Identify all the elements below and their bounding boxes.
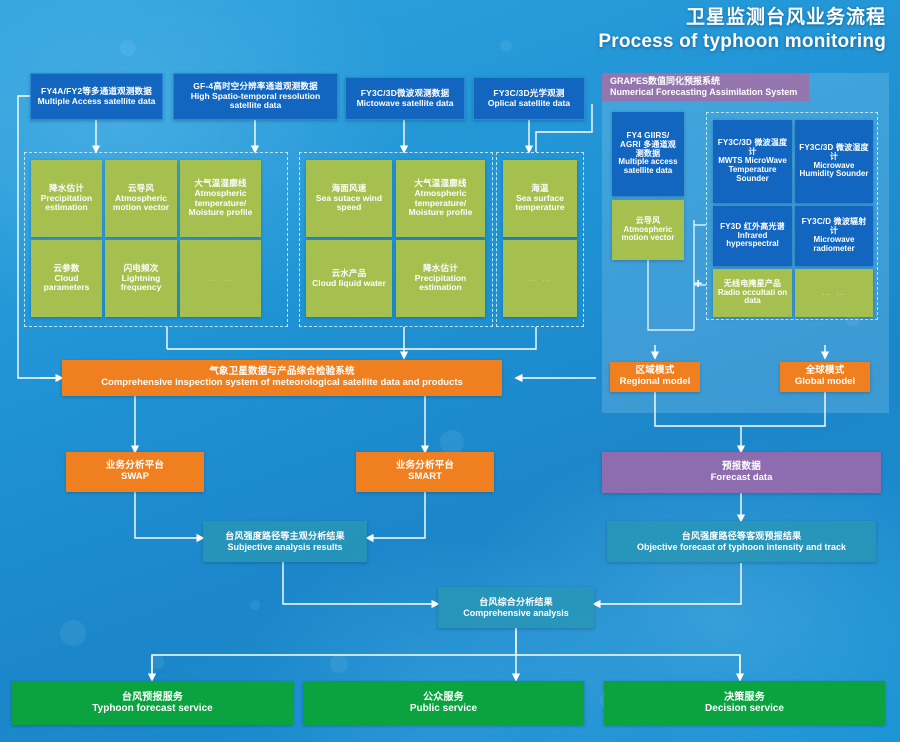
source-en: High Spatio-temporal resolution satellit…	[178, 92, 333, 111]
grapes-en: … …	[822, 289, 846, 298]
platform-en: SWAP	[121, 472, 149, 483]
subjective-analysis-box[interactable]: 台风强度路径等主观分析结果 Subjective analysis result…	[203, 521, 367, 562]
product-box-sea-surface-temperature[interactable]: 海温 Sea surface temperature	[503, 160, 577, 237]
objective-forecast-box[interactable]: 台风强度路径等客观预报结果 Objective forecast of typh…	[607, 521, 876, 562]
source-en: Oplical satellite data	[488, 99, 570, 109]
product-en: Precipitation estimation	[35, 194, 98, 213]
source-en: Multiple Access satellite data	[38, 97, 156, 107]
bokeh-dot	[120, 40, 136, 56]
grapes-en: Infrared hyperspectral	[717, 232, 788, 250]
objective-en: Objective forecast of typhoon intensity …	[637, 542, 846, 552]
grapes-panel-header: GRAPES数值同化预报系统 Numerical Forecasting Ass…	[602, 73, 809, 101]
product-box-cloud-parameters[interactable]: 云参数 Cloud parameters	[31, 240, 102, 317]
grapes-box-infrared-hyperspectral[interactable]: FY3D 红外高光谱 Infrared hyperspectral	[713, 206, 792, 266]
product-en: Atmospheric motion vector	[109, 194, 173, 213]
service-cn: 决策服务	[724, 692, 765, 703]
product-en: Lightning frequency	[109, 274, 173, 293]
product-en: Sea sutace wind speed	[310, 194, 388, 213]
product-box-more-1[interactable]: … …	[180, 240, 261, 317]
grapes-box-fy4-giirs-agri[interactable]: FY4 GIIRS/ AGRI 多通道观测数据 Multiple access …	[612, 112, 684, 196]
service-box-decision[interactable]: 决策服务 Decision service	[604, 681, 885, 725]
grapes-cn: FY3C/D 微波辐射计	[799, 218, 869, 236]
comprehensive-en: Comprehensive analysis	[463, 608, 569, 618]
grapes-header-en: Numerical Forecasting Assimilation Syste…	[610, 87, 809, 98]
grapes-plus-sign: +	[694, 276, 702, 290]
page-title-cn: 卫星监测台风业务流程	[598, 6, 886, 30]
source-box-multiple-access[interactable]: FY4A/FY2等多通道观测数据 Multiple Access satelli…	[30, 73, 163, 120]
service-box-typhoon-forecast[interactable]: 台风预报服务 Typhoon forecast service	[12, 681, 293, 725]
page-title: 卫星监测台风业务流程 Process of typhoon monitoring	[598, 6, 886, 54]
product-en: Sea surface temperature	[507, 194, 573, 213]
model-box-global[interactable]: 全球模式 Global model	[780, 362, 870, 392]
grapes-cn: FY3C/3D 微波湿度计	[799, 144, 869, 162]
model-box-regional[interactable]: 区域模式 Regional model	[610, 362, 700, 392]
page-title-en: Process of typhoon monitoring	[598, 30, 886, 54]
forecast-data-en: Forecast data	[711, 473, 773, 484]
grapes-en: Microwave Humidity Sounder	[799, 162, 869, 180]
platform-en: SMART	[408, 472, 442, 483]
product-box-precipitation-estimation-2[interactable]: 降水估计 Precipitation estimation	[396, 240, 485, 317]
product-box-atmos-temp-moisture-profile-2[interactable]: 大气温湿廓线 Atmospheric temperature/ Moisture…	[396, 160, 485, 237]
grapes-box-mwhs[interactable]: FY3C/3D 微波湿度计 Microwave Humidity Sounder	[795, 120, 873, 203]
service-en: Decision service	[705, 703, 784, 714]
forecast-data-cn: 预报数据	[722, 462, 761, 473]
service-box-public[interactable]: 公众服务 Public service	[303, 681, 584, 725]
inspection-en: Comprehensive inspection system of meteo…	[101, 378, 463, 389]
product-box-lightning-frequency[interactable]: 闪电频次 Lightning frequency	[105, 240, 177, 317]
product-en: Cloud liquid water	[312, 279, 386, 289]
subjective-en: Subjective analysis results	[227, 542, 342, 552]
forecast-data-box[interactable]: 预报数据 Forecast data	[602, 452, 881, 493]
diagram-canvas: 卫星监测台风业务流程 Process of typhoon monitoring…	[0, 0, 900, 742]
grapes-header-cn: GRAPES数值同化预报系统	[610, 76, 809, 87]
bokeh-dot	[60, 620, 86, 646]
grapes-box-radio-occultation[interactable]: 无线电掩星产品 Radio occultati on data	[713, 269, 792, 317]
grapes-box-mwts[interactable]: FY3C/3D 微波温度计 MWTS MicroWave Temperature…	[713, 120, 792, 203]
product-box-atmospheric-motion-vector[interactable]: 云导风 Atmospheric motion vector	[105, 160, 177, 237]
product-en: … …	[208, 274, 233, 284]
product-box-sea-surface-wind-speed[interactable]: 海面风速 Sea sutace wind speed	[306, 160, 392, 237]
grapes-box-microwave-radiometer[interactable]: FY3C/D 微波辐射计 Microwave radiometer	[795, 206, 873, 266]
grapes-cn: FY3C/3D 微波温度计	[717, 139, 788, 157]
grapes-en: MWTS MicroWave Temperature Sounder	[717, 157, 788, 184]
objective-cn: 台风强度路径等客观预报结果	[682, 531, 802, 541]
grapes-en: Radio occultati on data	[717, 289, 788, 307]
product-box-cloud-liquid-water[interactable]: 云水产品 Cloud liquid water	[306, 240, 392, 317]
product-en: Cloud parameters	[35, 274, 98, 293]
grapes-box-more[interactable]: … …	[795, 269, 873, 317]
product-en: Atmospheric temperature/ Moisture profil…	[400, 189, 481, 218]
grapes-en: Multiple access satellite data	[616, 158, 680, 176]
subjective-cn: 台风强度路径等主观分析结果	[225, 531, 345, 541]
model-en: Global model	[795, 377, 855, 388]
platform-box-smart[interactable]: 业务分析平台 SMART	[356, 452, 494, 492]
bokeh-dot	[330, 655, 348, 673]
grapes-en: Atmospheric motion vector	[616, 226, 680, 244]
comprehensive-cn: 台风综合分析结果	[479, 597, 553, 607]
grapes-box-atmospheric-motion-vector[interactable]: 云导风 Atmospheric motion vector	[612, 200, 684, 260]
comprehensive-analysis-box[interactable]: 台风综合分析结果 Comprehensive analysis	[438, 587, 594, 628]
bokeh-dot	[440, 430, 464, 454]
platform-box-swap[interactable]: 业务分析平台 SWAP	[66, 452, 204, 492]
source-box-optical[interactable]: FY3C/3D光学观测 Oplical satellite data	[473, 77, 585, 120]
product-box-more-3[interactable]: … …	[503, 240, 577, 317]
bokeh-dot	[500, 40, 512, 52]
service-en: Public service	[410, 703, 477, 714]
product-en: Precipitation estimation	[400, 274, 481, 293]
inspection-system-bar[interactable]: 气象卫星数据与产品综合检验系统 Comprehensive inspection…	[62, 360, 502, 396]
grapes-cn: FY4 GIIRS/ AGRI 多通道观测数据	[616, 132, 680, 159]
source-box-microwave[interactable]: FY3C/3D微波观测数据 Mictowave satellite data	[345, 77, 465, 120]
service-en: Typhoon forecast service	[92, 703, 212, 714]
model-en: Regional model	[620, 377, 691, 388]
product-box-atmos-temp-moisture-profile[interactable]: 大气温湿廓线 Atmospheric temperature/ Moisture…	[180, 160, 261, 237]
product-en: … …	[527, 274, 552, 284]
bokeh-dot	[150, 655, 164, 669]
source-en: Mictowave satellite data	[357, 99, 454, 109]
bokeh-dot	[250, 600, 260, 610]
product-box-precipitation-estimation[interactable]: 降水估计 Precipitation estimation	[31, 160, 102, 237]
product-en: Atmospheric temperature/ Moisture profil…	[184, 189, 257, 218]
source-box-gf4-high-spatio-temporal[interactable]: GF-4高时空分辨率通道观测数据 High Spatio-temporal re…	[173, 73, 338, 120]
grapes-en: Microwave radiometer	[799, 236, 869, 254]
service-cn: 公众服务	[423, 692, 464, 703]
service-cn: 台风预报服务	[122, 692, 183, 703]
